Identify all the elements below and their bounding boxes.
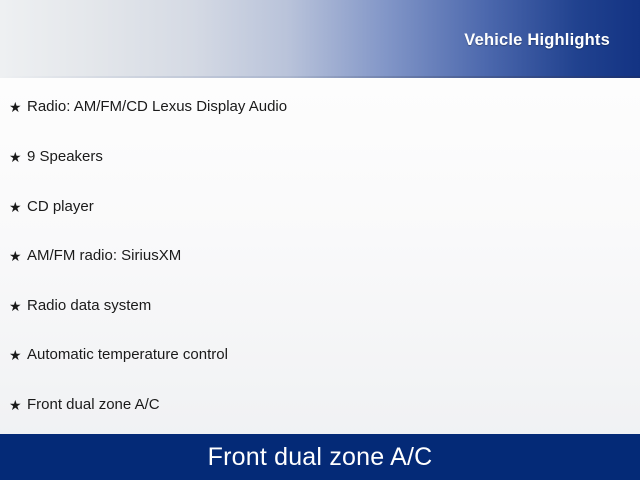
page-title: Vehicle Highlights bbox=[464, 31, 610, 50]
list-item: ★ 9 Speakers bbox=[0, 146, 640, 168]
list-item: ★ AM/FM radio: SiriusXM bbox=[0, 245, 640, 267]
star-icon: ★ bbox=[9, 299, 27, 313]
highlight-label: Front dual zone A/C bbox=[27, 395, 160, 415]
list-item: ★ CD player bbox=[0, 196, 640, 218]
star-icon: ★ bbox=[9, 150, 27, 164]
highlight-label: Radio: AM/FM/CD Lexus Display Audio bbox=[27, 97, 287, 117]
star-icon: ★ bbox=[9, 249, 27, 263]
highlight-label: 9 Speakers bbox=[27, 147, 103, 167]
header-banner: Vehicle Highlights bbox=[0, 0, 640, 78]
list-item: ★ Radio data system bbox=[0, 295, 640, 317]
highlight-label: AM/FM radio: SiriusXM bbox=[27, 246, 181, 266]
highlight-label: Radio data system bbox=[27, 296, 151, 316]
vehicle-highlights-slide: Vehicle Highlights ★ Radio: AM/FM/CD Lex… bbox=[0, 0, 640, 480]
highlights-list: ★ Radio: AM/FM/CD Lexus Display Audio ★ … bbox=[0, 78, 640, 434]
list-item: ★ Radio: AM/FM/CD Lexus Display Audio bbox=[0, 96, 640, 118]
star-icon: ★ bbox=[9, 100, 27, 114]
list-item: ★ Front dual zone A/C bbox=[0, 394, 640, 416]
footer-caption-bar: Front dual zone A/C bbox=[0, 434, 640, 480]
footer-caption-text: Front dual zone A/C bbox=[208, 443, 433, 472]
list-item: ★ Automatic temperature control bbox=[0, 344, 640, 366]
star-icon: ★ bbox=[9, 398, 27, 412]
highlight-label: CD player bbox=[27, 197, 94, 217]
highlight-label: Automatic temperature control bbox=[27, 345, 228, 365]
star-icon: ★ bbox=[9, 200, 27, 214]
star-icon: ★ bbox=[9, 348, 27, 362]
